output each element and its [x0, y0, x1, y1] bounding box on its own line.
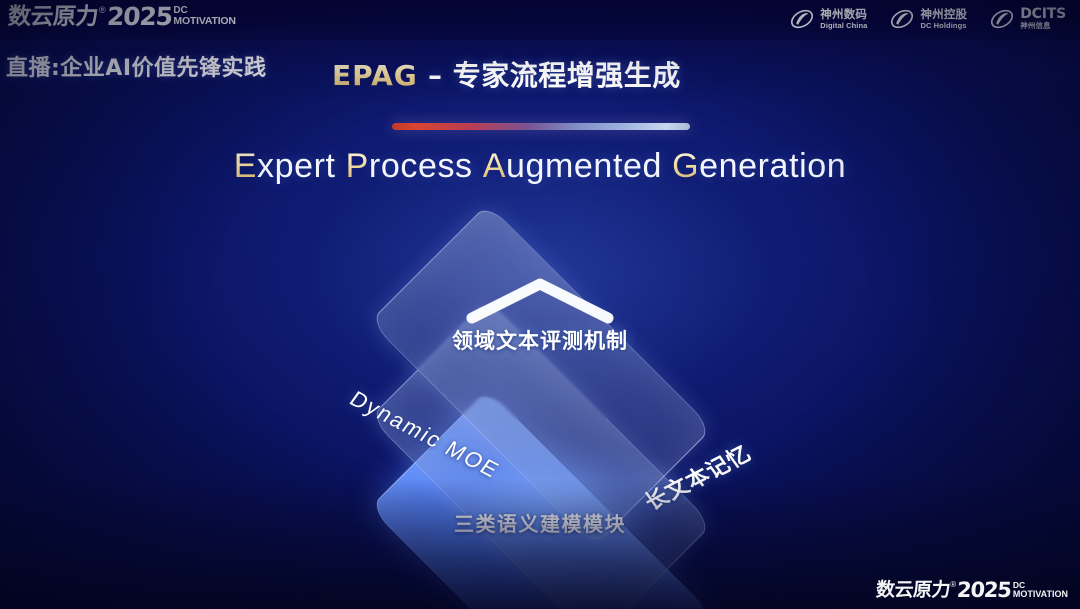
corporate-name-cn: 神州控股	[920, 8, 967, 21]
corporate-name-en: Digital China	[820, 21, 867, 30]
stack-layer-bottom-label: 三类语义建模模块	[454, 508, 626, 537]
swirl-logo-icon	[989, 6, 1015, 32]
corporate-logo-text: 神州数码 Digital China	[820, 8, 867, 30]
watermark-motivation: MOTIVATION	[1013, 590, 1068, 600]
corporate-logo-dc-holdings: 神州控股 DC Holdings	[889, 6, 967, 32]
english-subtitle: Expert Process Augmented Generation	[0, 147, 1080, 186]
watermark-year: 2025	[956, 580, 1011, 601]
watermark-logo: 数云原力 ® 2025 DC MOTIVATION	[876, 580, 1068, 601]
corporate-name-en: DC Holdings	[920, 21, 967, 30]
corporate-name-en: 神州信息	[1020, 21, 1066, 30]
swirl-logo-icon	[889, 6, 915, 32]
gradient-divider	[392, 123, 690, 130]
subtitle-cap: E	[234, 147, 257, 185]
event-logo-registered-mark: ®	[99, 4, 106, 16]
corporate-logo-digital-china: 神州数码 Digital China	[789, 6, 867, 32]
slide-canvas: 数云原力 ® 2025 DC MOTIVATION 直播:企业AI价值先锋实践 …	[0, 0, 1080, 609]
event-logo-motivation: MOTIVATION	[173, 16, 235, 27]
subtitle-cap: G	[672, 147, 699, 185]
slide-title-rest: – 专家流程增强生成	[418, 59, 681, 92]
corporate-logo-group: 神州数码 Digital China 神州控股 DC Holdings DCIT…	[789, 6, 1066, 32]
live-stream-label: 直播:企业AI价值先锋实践	[6, 50, 267, 82]
event-logo-year: 2025	[106, 4, 173, 30]
event-logo-brand-cn: 数云原力	[7, 4, 99, 30]
watermark-registered-mark: ®	[950, 580, 956, 590]
stack-layer-top-label: 领域文本评测机制	[452, 325, 628, 355]
swirl-logo-icon	[789, 6, 815, 32]
corporate-logo-text: 神州控股 DC Holdings	[920, 8, 967, 30]
subtitle-rest: ugmented	[506, 147, 662, 185]
corporate-name-cn: 神州数码	[820, 8, 867, 21]
chevron-up-icon	[460, 272, 620, 328]
layer-stack-diagram: 领域文本评测机制 Dynamic MOE 长文本记忆 三类语义建模模块	[270, 212, 810, 582]
subtitle-cap: P	[346, 147, 369, 185]
corporate-logo-text: DCITS 神州信息	[1020, 8, 1066, 30]
watermark-dc-motivation: DC MOTIVATION	[1013, 580, 1068, 599]
subtitle-rest: eneration	[699, 147, 846, 185]
subtitle-rest: rocess	[369, 147, 473, 185]
slide-title-acronym: EPAG	[332, 59, 418, 92]
corporate-logo-dcits: DCITS 神州信息	[989, 6, 1066, 32]
subtitle-word-process: Process	[346, 147, 473, 185]
subtitle-word-expert: Expert	[234, 147, 336, 185]
subtitle-cap: A	[483, 147, 506, 185]
watermark-brand-cn: 数云原力	[876, 580, 951, 601]
subtitle-word-generation: Generation	[672, 147, 846, 185]
subtitle-rest: xpert	[257, 147, 336, 185]
event-logo-dc-motivation: DC MOTIVATION	[173, 4, 235, 27]
slide-title: EPAG – 专家流程增强生成	[332, 54, 681, 94]
corporate-name-cn: DCITS	[1020, 8, 1066, 21]
event-logo: 数云原力 ® 2025 DC MOTIVATION	[8, 4, 236, 30]
subtitle-word-augmented: Augmented	[483, 147, 662, 185]
